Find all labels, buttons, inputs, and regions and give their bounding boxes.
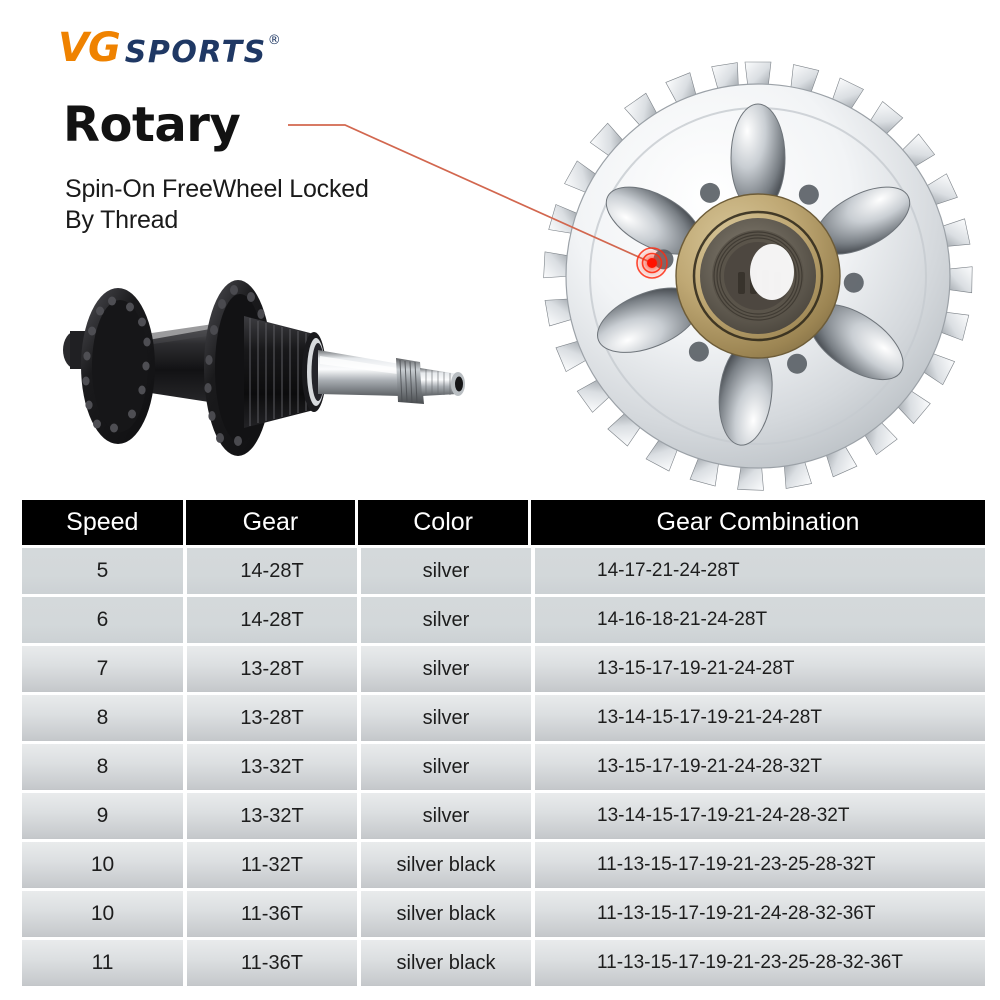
cell-color: silver black [361,891,531,937]
freewheel-illustration [536,58,992,494]
page-title: Rotary [63,97,240,153]
table-row: 7 13-28T silver 13-15-17-19-21-24-28T [22,646,985,692]
specification-table: Speed Gear Color Gear Combination 5 14-2… [22,500,985,986]
table-header-row: Speed Gear Color Gear Combination [22,500,985,545]
cell-gear: 13-32T [187,793,357,839]
cell-speed: 6 [22,597,183,643]
cell-color: silver [361,695,531,741]
product-infographic-page: VG SPORTS ® Rotary Spin-On FreeWheel Loc… [0,0,1000,1000]
table-row: 11 11-36T silver black 11-13-15-17-19-21… [22,940,985,986]
table-row: 6 14-28T silver 14-16-18-21-24-28T [22,597,985,643]
hub-axle-end [420,368,465,396]
cell-gear: 13-28T [187,695,357,741]
cell-gear-combination: 14-16-18-21-24-28T [535,597,985,643]
cell-color: silver black [361,842,531,888]
cell-gear-combination: 13-14-15-17-19-21-24-28T [535,695,985,741]
cell-gear: 14-28T [187,597,357,643]
cell-gear-combination: 13-14-15-17-19-21-24-28-32T [535,793,985,839]
hub-knurled-nut [396,358,424,404]
cell-speed: 5 [22,548,183,594]
cell-gear-combination: 11-13-15-17-19-21-24-28-32-36T [535,891,985,937]
freewheel-sprocket-teeth [544,62,973,490]
hub-thread-section [244,316,326,428]
hub-left-flange [81,288,155,444]
cell-speed: 10 [22,891,183,937]
table-row: 10 11-32T silver black 11-13-15-17-19-21… [22,842,985,888]
bicycle-hub-image [52,238,472,490]
column-header-speed: Speed [22,500,183,545]
cell-color: silver [361,597,531,643]
cell-color: silver [361,646,531,692]
cell-speed: 11 [22,940,183,986]
cell-gear-combination: 11-13-15-17-19-21-23-25-28-32T [535,842,985,888]
brand-logo-vg: VG [58,27,120,69]
brand-logo-sports: SPORTS [125,38,267,68]
cell-gear: 13-32T [187,744,357,790]
cell-speed: 8 [22,695,183,741]
cell-gear: 14-28T [187,548,357,594]
column-header-gear: Gear [186,500,356,545]
hub-illustration [52,238,472,490]
cell-speed: 9 [22,793,183,839]
table-row: 10 11-36T silver black 11-13-15-17-19-21… [22,891,985,937]
cell-gear: 13-28T [187,646,357,692]
cell-gear: 11-32T [187,842,357,888]
cell-color: silver [361,793,531,839]
table-row: 5 14-28T silver 14-17-21-24-28T [22,548,985,594]
cell-gear: 11-36T [187,940,357,986]
cell-color: silver black [361,940,531,986]
table-row: 9 13-32T silver 13-14-15-17-19-21-24-28-… [22,793,985,839]
hub-axle [318,350,400,396]
cell-gear-combination: 11-13-15-17-19-21-23-25-28-32-36T [535,940,985,986]
cell-gear: 11-36T [187,891,357,937]
brand-logo: VG SPORTS ® [58,27,281,69]
column-header-gear-combination: Gear Combination [531,500,985,545]
page-subtitle: Spin-On FreeWheel Locked By Thread [65,174,369,236]
cell-speed: 7 [22,646,183,692]
cell-gear-combination: 14-17-21-24-28T [535,548,985,594]
table-row: 8 13-28T silver 13-14-15-17-19-21-24-28T [22,695,985,741]
cell-speed: 8 [22,744,183,790]
cell-gear-combination: 13-15-17-19-21-24-28-32T [535,744,985,790]
registered-trademark-icon: ® [268,33,281,48]
freewheel-image [536,58,992,494]
table-row: 8 13-32T silver 13-15-17-19-21-24-28-32T [22,744,985,790]
freewheel-threaded-bore [712,230,804,322]
cell-speed: 10 [22,842,183,888]
cell-color: silver [361,744,531,790]
cell-gear-combination: 13-15-17-19-21-24-28T [535,646,985,692]
cell-color: silver [361,548,531,594]
column-header-color: Color [358,500,528,545]
